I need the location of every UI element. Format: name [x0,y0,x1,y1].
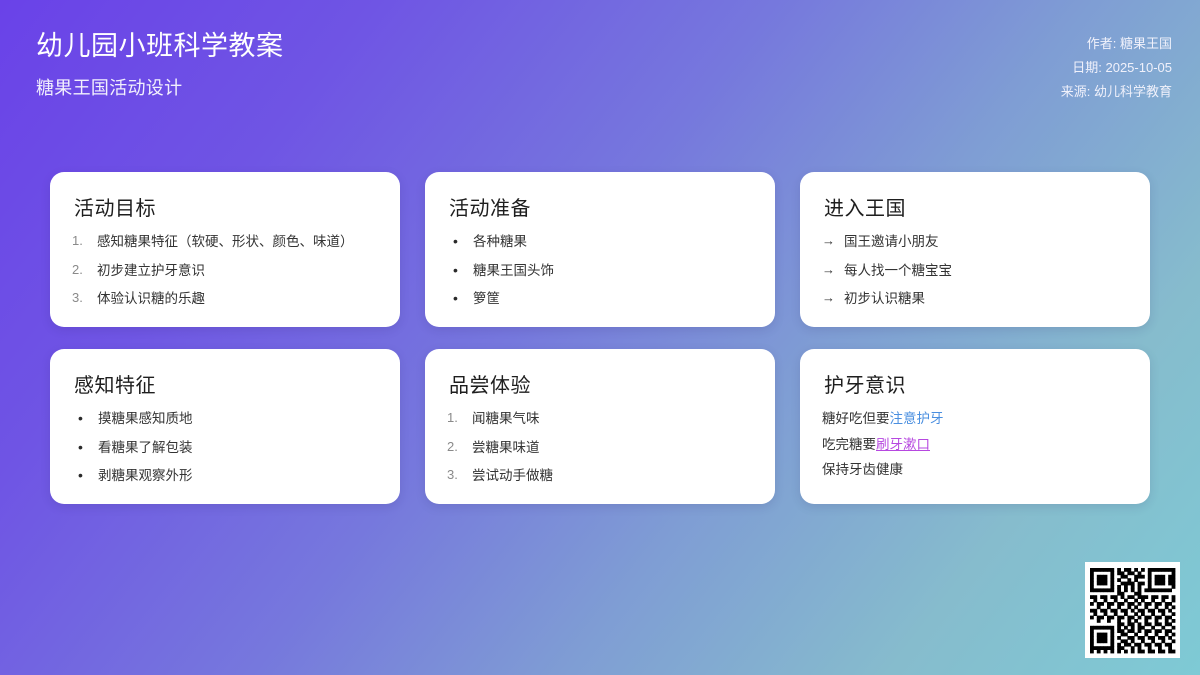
list-item-label: 感知糖果特征（软硬、形状、颜色、味道） [97,234,354,249]
qr-code[interactable] [1085,562,1180,658]
qr-code-image [1085,563,1180,658]
list-marker-number: 1. [72,233,83,250]
list-item: →每人找一个糖宝宝 [822,262,1128,280]
meta-date: 日期: 2025-10-05 [1061,56,1172,80]
card-body: →国王邀请小朋友→每人找一个糖宝宝→初步认识糖果 [822,233,1128,308]
content-card: 感知特征•摸糖果感知质地•看糖果了解包装•剥糖果观察外形 [50,349,400,504]
card-title: 品尝体验 [447,369,753,398]
paragraph-line: 吃完糖要刷牙漱口 [822,436,1128,454]
arrow-right-icon: → [822,290,835,307]
list-item-label: 每人找一个糖宝宝 [844,263,952,278]
list-item-label: 糖果王国头饰 [473,263,554,278]
content-card: 品尝体验1.闻糖果气味2.尝糖果味道3.尝试动手做糖 [425,349,775,504]
text-segment: 保持牙齿健康 [822,462,903,477]
list-item: →初步认识糖果 [822,290,1128,308]
list-item-label: 各种糖果 [473,234,527,249]
meta-source: 来源: 幼儿科学教育 [1061,80,1172,104]
inline-link[interactable]: 注意护牙 [890,411,944,426]
text-segment: 吃完糖要 [822,437,876,452]
list-marker-bullet-icon: • [78,439,83,457]
list-item-label: 尝糖果味道 [472,440,540,455]
list-item: 3.体验认识糖的乐趣 [72,290,378,308]
slide-header: 幼儿园小班科学教案 糖果王国活动设计 [0,0,1200,150]
list-item: •各种糖果 [447,233,753,251]
list-item: •箩筐 [447,290,753,308]
card-title: 进入王国 [822,192,1128,221]
card-body: •各种糖果•糖果王国头饰•箩筐 [447,233,753,308]
list-marker-number: 1. [447,410,458,427]
list-item-label: 体验认识糖的乐趣 [97,291,205,306]
arrow-right-icon: → [822,262,835,279]
list-marker-bullet-icon: • [78,467,83,485]
list-item-label: 尝试动手做糖 [472,468,553,483]
bullet-list: •各种糖果•糖果王国头饰•箩筐 [447,233,753,308]
list-item: •剥糖果观察外形 [72,467,378,485]
list-item-label: 闻糖果气味 [472,411,540,426]
meta-info: 作者: 糖果王国 日期: 2025-10-05 来源: 幼儿科学教育 [1061,32,1172,104]
card-title: 活动准备 [447,192,753,221]
bullet-list: •摸糖果感知质地•看糖果了解包装•剥糖果观察外形 [72,410,378,485]
paragraph-line: 糖好吃但要注意护牙 [822,410,1128,428]
meta-author: 作者: 糖果王国 [1061,32,1172,56]
list-item: 2.尝糖果味道 [447,439,753,457]
ordered-list: 1.感知糖果特征（软硬、形状、颜色、味道）2.初步建立护牙意识3.体验认识糖的乐… [72,233,378,308]
list-item-label: 初步认识糖果 [844,291,925,306]
ordered-list: 1.闻糖果气味2.尝糖果味道3.尝试动手做糖 [447,410,753,485]
text-segment: 糖好吃但要 [822,411,890,426]
list-item: 1.闻糖果气味 [447,410,753,428]
card-title: 感知特征 [72,369,378,398]
list-item: 1.感知糖果特征（软硬、形状、颜色、味道） [72,233,378,251]
list-item-label: 国王邀请小朋友 [844,234,939,249]
list-marker-number: 3. [72,290,83,307]
card-body: •摸糖果感知质地•看糖果了解包装•剥糖果观察外形 [72,410,378,485]
inline-link[interactable]: 刷牙漱口 [876,437,930,452]
card-body: 1.感知糖果特征（软硬、形状、颜色、味道）2.初步建立护牙意识3.体验认识糖的乐… [72,233,378,308]
paragraph-lines: 糖好吃但要注意护牙吃完糖要刷牙漱口保持牙齿健康 [822,410,1128,479]
list-marker-number: 2. [72,262,83,279]
content-card: 进入王国→国王邀请小朋友→每人找一个糖宝宝→初步认识糖果 [800,172,1150,327]
list-item: 3.尝试动手做糖 [447,467,753,485]
list-item: •糖果王国头饰 [447,262,753,280]
card-title: 护牙意识 [822,369,1128,398]
list-item: •看糖果了解包装 [72,439,378,457]
list-item-label: 看糖果了解包装 [98,440,193,455]
slide-root: 幼儿园小班科学教案 糖果王国活动设计 作者: 糖果王国 日期: 2025-10-… [0,0,1200,675]
page-title: 幼儿园小班科学教案 [36,28,1150,64]
content-card: 护牙意识糖好吃但要注意护牙吃完糖要刷牙漱口保持牙齿健康 [800,349,1150,504]
list-item-label: 剥糖果观察外形 [98,468,193,483]
card-grid: 活动目标1.感知糖果特征（软硬、形状、颜色、味道）2.初步建立护牙意识3.体验认… [50,172,1150,504]
content-card: 活动准备•各种糖果•糖果王国头饰•箩筐 [425,172,775,327]
card-body: 糖好吃但要注意护牙吃完糖要刷牙漱口保持牙齿健康 [822,410,1128,479]
list-item-label: 箩筐 [473,291,500,306]
arrow-list: →国王邀请小朋友→每人找一个糖宝宝→初步认识糖果 [822,233,1128,308]
page-subtitle: 糖果王国活动设计 [36,74,1150,100]
list-item: 2.初步建立护牙意识 [72,262,378,280]
arrow-right-icon: → [822,233,835,250]
list-marker-number: 2. [447,439,458,456]
paragraph-line: 保持牙齿健康 [822,461,1128,479]
list-marker-bullet-icon: • [453,290,458,308]
content-card: 活动目标1.感知糖果特征（软硬、形状、颜色、味道）2.初步建立护牙意识3.体验认… [50,172,400,327]
list-item-label: 初步建立护牙意识 [97,263,205,278]
list-item-label: 摸糖果感知质地 [98,411,193,426]
card-body: 1.闻糖果气味2.尝糖果味道3.尝试动手做糖 [447,410,753,485]
list-item: →国王邀请小朋友 [822,233,1128,251]
list-marker-bullet-icon: • [453,262,458,280]
card-title: 活动目标 [72,192,378,221]
list-marker-bullet-icon: • [453,233,458,251]
list-marker-bullet-icon: • [78,410,83,428]
list-item: •摸糖果感知质地 [72,410,378,428]
list-marker-number: 3. [447,467,458,484]
